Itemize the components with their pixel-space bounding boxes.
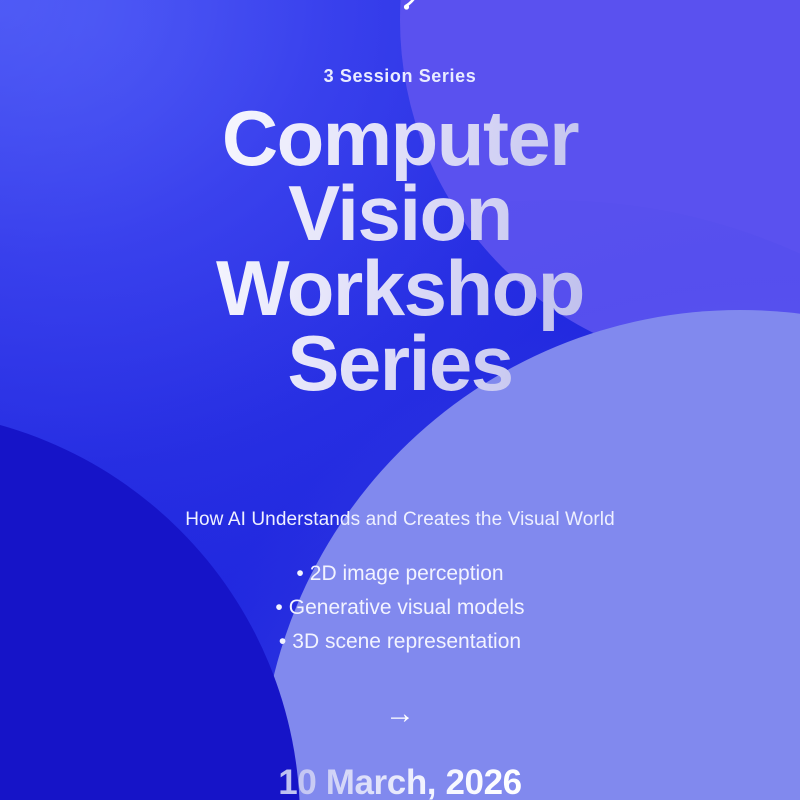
topic-label: 2D image perception: [310, 562, 504, 585]
topic-list: •2D image perception •Generative visual …: [275, 557, 524, 659]
bullet-icon: •: [275, 596, 282, 619]
bullet-icon: •: [296, 562, 303, 585]
list-item: •Generative visual models: [275, 591, 524, 625]
list-item: •2D image perception: [275, 557, 524, 591]
list-item: •3D scene representation: [275, 625, 524, 659]
page-title-line-4: Series: [80, 326, 720, 401]
series-eyebrow: 3 Session Series: [324, 66, 477, 87]
page-title-line-3: Workshop: [80, 251, 720, 326]
topic-label: Generative visual models: [289, 596, 525, 619]
page-title-line-1: Computer: [80, 101, 720, 176]
page-title-line-2: Vision: [80, 176, 720, 251]
poster-canvas: 3 Session Series Computer Vision Worksho…: [0, 0, 800, 800]
subtitle: How AI Understands and Creates the Visua…: [185, 509, 615, 531]
arrow-right-icon: →: [385, 699, 415, 729]
poster-content: 3 Session Series Computer Vision Worksho…: [0, 0, 800, 800]
bullet-icon: •: [279, 630, 286, 653]
topic-label: 3D scene representation: [292, 630, 521, 653]
page-title: Computer Vision Workshop Series: [80, 101, 720, 401]
event-date: 10 March, 2026: [278, 763, 521, 800]
